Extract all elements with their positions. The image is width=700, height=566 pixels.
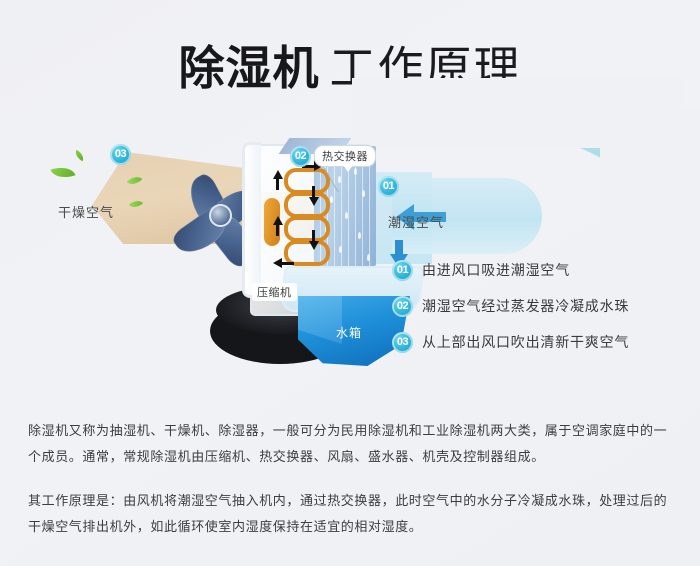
coil-pipe [284,168,330,194]
legend-item-02: 02 潮湿空气经过蒸发器冷凝成水珠 [392,288,692,324]
fan-hub [209,204,232,227]
legend-label-02: 潮湿空气经过蒸发器冷凝成水珠 [422,296,629,316]
legend-badge-03: 03 [392,332,413,353]
diagram-badge-01: 01 [378,176,399,197]
infographic-page: 除湿机工作原理 01 潮湿空气 03 干燥空气 [0,0,700,566]
description-block: 除湿机又称为抽湿机、干燥机、除湿器，一般可分为民用除湿机和工业除湿机两大类，属于… [28,418,676,558]
legend-list: 01 由进风口吸进潮湿空气 02 潮湿空气经过蒸发器冷凝成水珠 03 从上部出风… [392,252,692,360]
air-duct-pipe [242,142,261,298]
description-paragraph-1: 除湿机又称为抽湿机、干燥机、除湿器，一般可分为民用除湿机和工业除湿机两大类，属于… [28,418,676,470]
legend-label-03: 从上部出风口吹出清新干爽空气 [422,332,629,352]
page-title-primary: 除湿机 [179,42,320,94]
dry-air-label: 干燥空气 [58,202,114,221]
legend-badge-02: 02 [392,296,413,317]
coil-pipe [284,192,330,218]
diagram-badge-03: 03 [110,144,131,165]
compressor-label: 压缩机 [252,283,297,301]
refrigerant-coil-assembly [262,164,328,274]
water-tank-label: 水箱 [336,324,362,341]
coil-pipe [284,216,330,242]
legend-item-01: 01 由进风口吸进潮湿空气 [392,252,692,288]
heat-exchanger-callout: 热交换器 [314,145,376,167]
legend-label-01: 由进风口吸进潮湿空气 [422,260,570,280]
diagram-badge-02: 02 [290,146,311,167]
description-paragraph-2: 其工作原理是：由风机将潮湿空气抽入机内，通过热交换器，此时空气中的水分子冷凝成水… [28,488,676,540]
legend-badge-01: 01 [392,260,413,281]
legend-item-03: 03 从上部出风口吹出清新干爽空气 [392,324,692,360]
